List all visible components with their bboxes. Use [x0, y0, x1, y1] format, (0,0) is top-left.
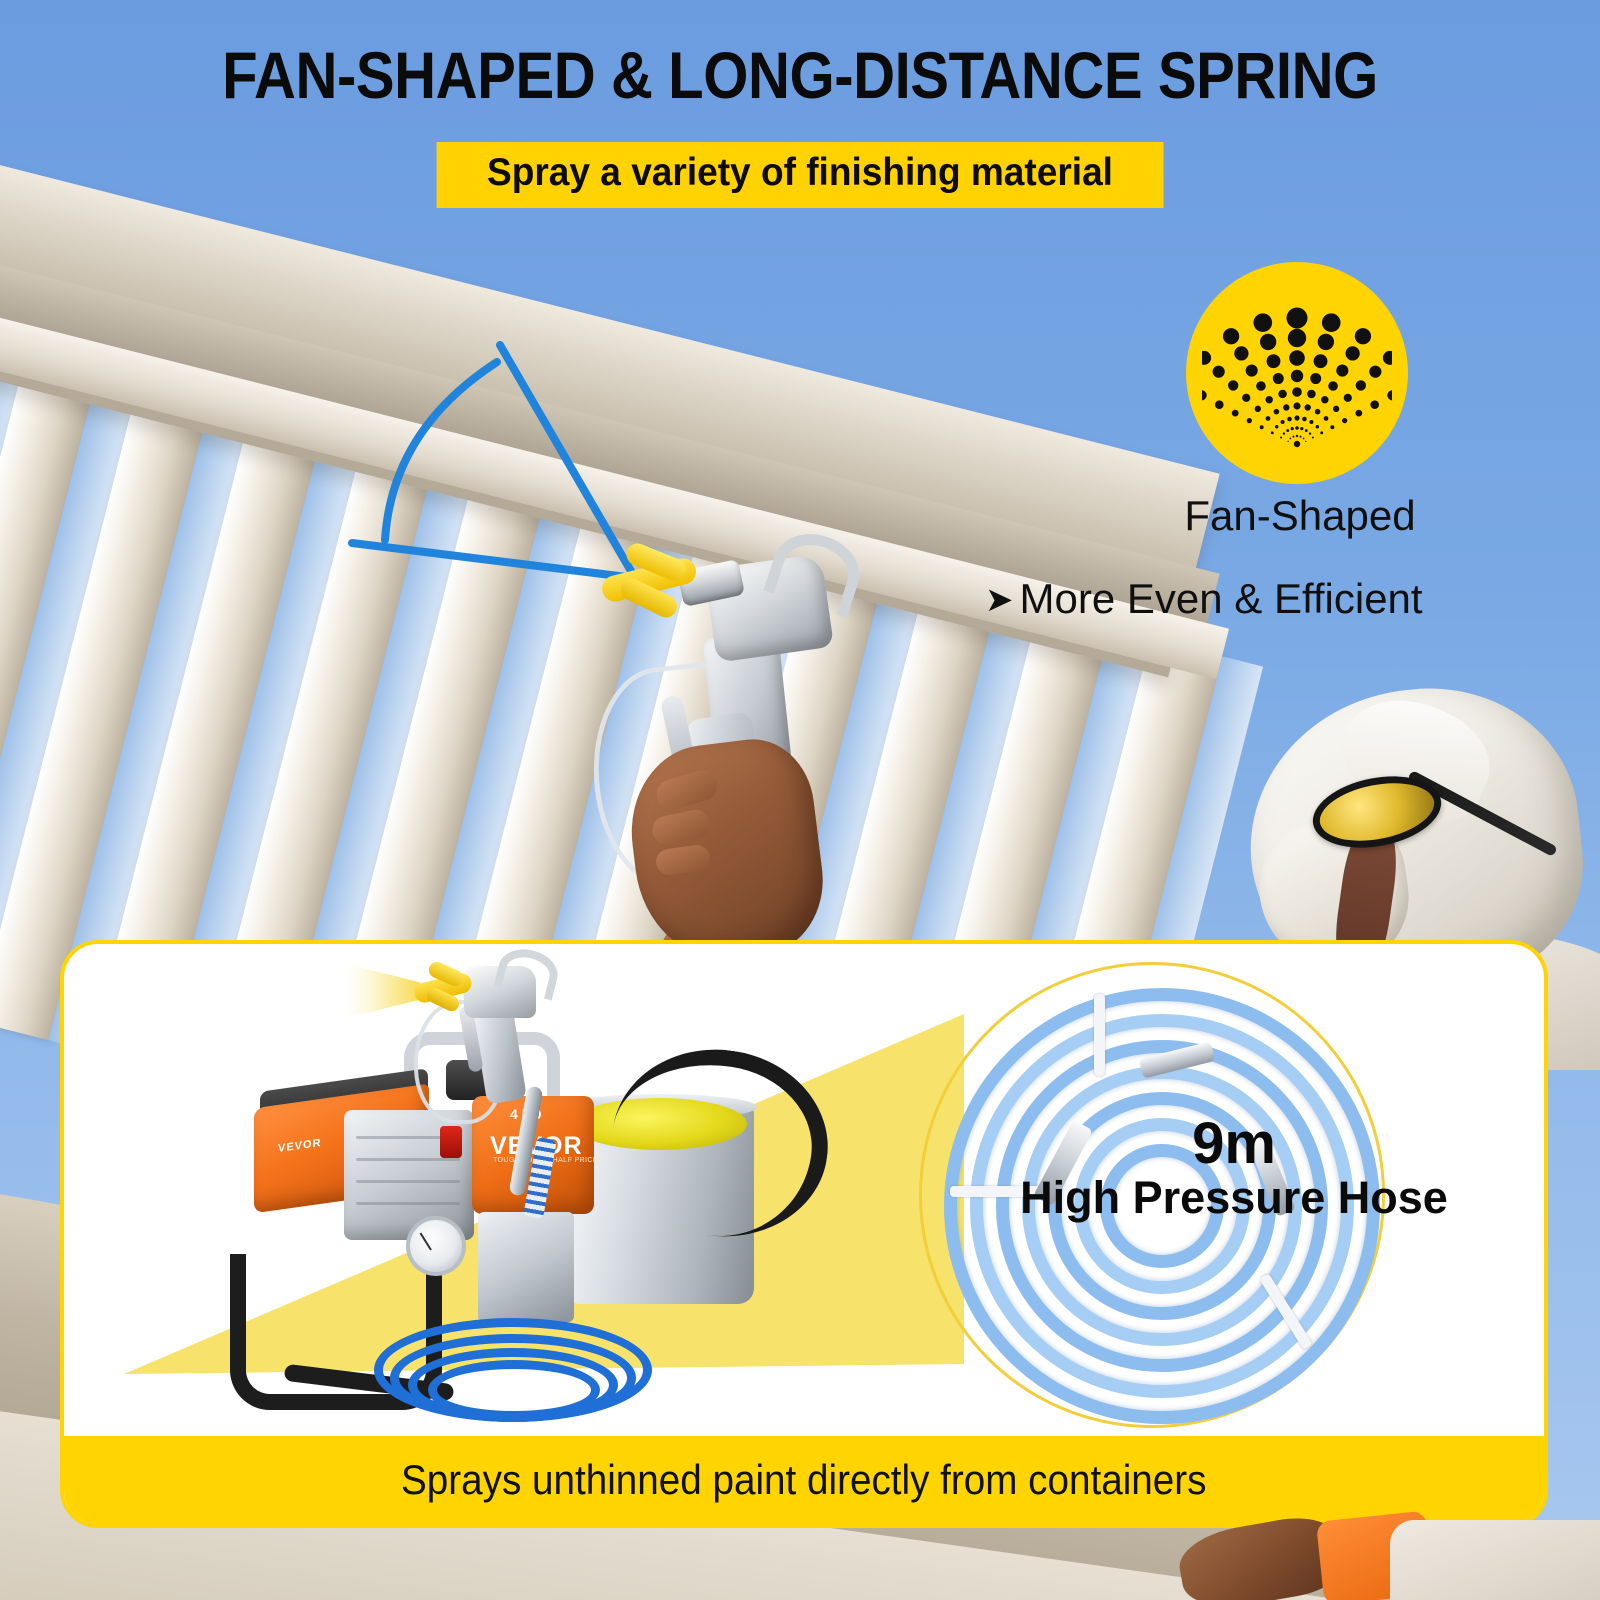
subtitle-highlight-box: Spray a variety of finishing material — [437, 142, 1164, 208]
blue-hose-coil — [374, 1284, 674, 1424]
hose-callout: 9m High Pressure Hose — [1019, 1114, 1449, 1223]
product-marketing-image: FAN-SHAPED & LONG-DISTANCE SPRING Spray … — [0, 0, 1600, 1600]
gun-yellow-tip-guard — [595, 549, 705, 623]
badge-bullet-text: More Even & Efficient — [1020, 575, 1423, 622]
fan-spray-dots-icon — [1202, 278, 1392, 468]
background-suit — [1390, 1520, 1600, 1600]
fan-shaped-badge — [1186, 262, 1408, 484]
badge-label: Fan-Shaped — [1120, 492, 1480, 540]
product-spray-gun — [402, 948, 582, 1128]
pressure-gauge — [406, 1216, 466, 1276]
hose-zip-tie — [1094, 994, 1105, 1076]
panel-caption-text: Sprays unthinned paint directly from con… — [401, 1456, 1206, 1504]
spray-gun-in-hand — [560, 525, 890, 995]
spray-fan-effect — [346, 964, 420, 1018]
power-switch — [440, 1126, 462, 1158]
arrow-bullet-icon: ➤ — [985, 581, 1014, 619]
badge-bullet: ➤More Even & Efficient — [985, 575, 1585, 623]
paint-sprayer-product: VEVOR 450 VEVOR TOUGH TOOLS, HALF PRICE — [194, 954, 814, 1434]
page-title: FAN-SHAPED & LONG-DISTANCE SPRING — [96, 42, 1504, 108]
subtitle-text: Spray a variety of finishing material — [487, 151, 1113, 195]
hose-label: High Pressure Hose — [1019, 1173, 1449, 1223]
product-panel: 9m High Pressure Hose VEVOR 450 — [60, 940, 1548, 1528]
hose-length: 9m — [1019, 1114, 1449, 1173]
panel-caption-bar: Sprays unthinned paint directly from con… — [64, 1436, 1544, 1524]
